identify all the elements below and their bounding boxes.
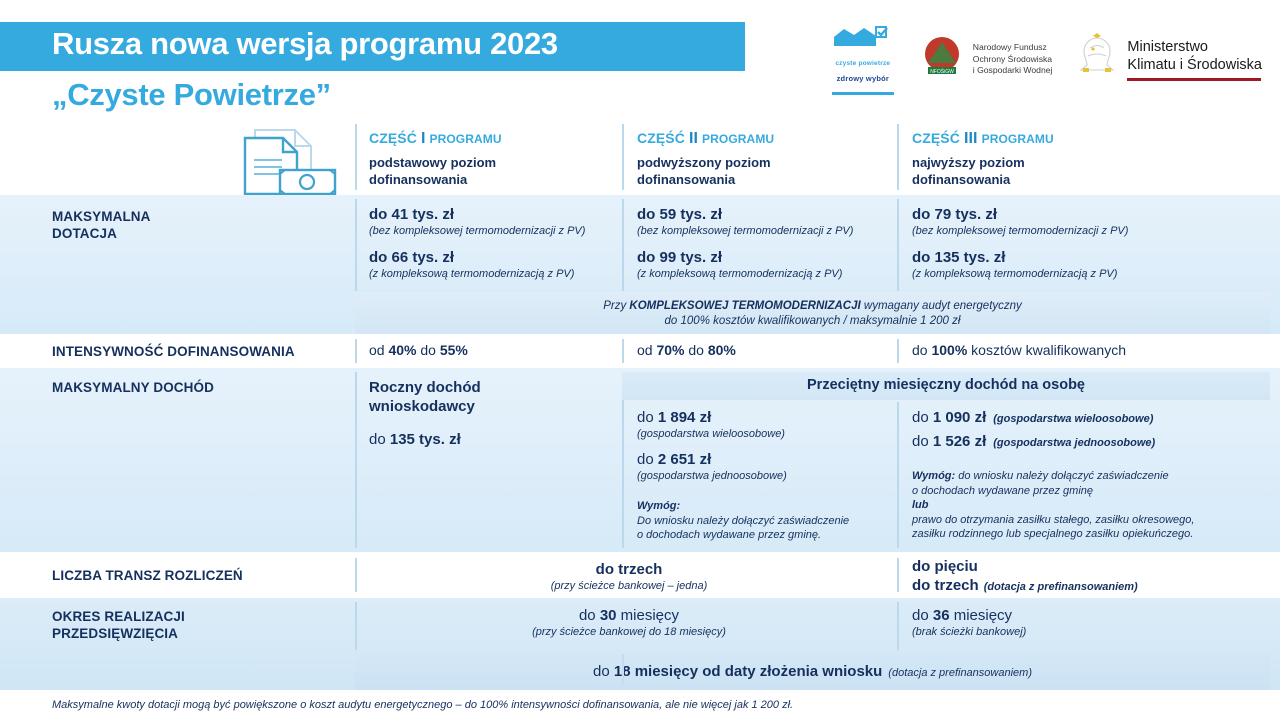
okres-bottom-separator	[622, 654, 624, 684]
transze-wide-amount: do trzech	[369, 560, 889, 579]
logo-nfosigw: NFOŚiGW Narodowy Fundusz Ochrony Środowi…	[918, 33, 1053, 86]
row5-separator-2	[897, 602, 899, 650]
okres-wide-value: 30	[600, 607, 617, 624]
dotacja-c1-note-1: (bez kompleksowej termomodernizacji z PV…	[369, 224, 585, 238]
row-intensywnosc: INTENSYWNOŚĆ DOFINANSOWANIA od 40% do 55…	[0, 334, 1280, 368]
nfos-line3: i Gospodarki Wodnej	[973, 65, 1053, 75]
dochod-c3-req-label: Wymóg:	[912, 470, 955, 482]
row2-separator-1	[355, 339, 357, 363]
column-3-kicker: CZĘŚĆ III PROGRAMU	[912, 130, 1162, 148]
transze-col-3: do pięciu do trzech(dotacja z prefinanso…	[912, 557, 1138, 595]
transze-wide: do trzech (przy ścieżce bankowej – jedna…	[369, 560, 889, 593]
footnote-band: Maksymalne kwoty dotacji mogą być powięk…	[0, 690, 1280, 721]
dochod-c1-amount: do 135 tys. zł	[369, 430, 481, 449]
column-header-2: CZĘŚĆ II PROGRAMU podwyższony poziom dof…	[637, 130, 887, 188]
dochod-c2-note-1: (gospodarstwa wieloosobowe)	[637, 427, 907, 441]
okres-wide: do 30 miesięcy (przy ścieżce bankowej do…	[369, 606, 889, 639]
row1-separator-2	[622, 199, 624, 291]
row1-separator-1	[355, 199, 357, 291]
dochod-c2-req-label: Wymóg:	[637, 499, 907, 514]
column-2-kicker: CZĘŚĆ II PROGRAMU	[637, 130, 887, 148]
dotacja-c1-amount-1: do 41 tys. zł	[369, 205, 585, 224]
column-separator-1	[355, 124, 357, 190]
okres-bottom-note: (dotacja z prefinansowaniem)	[888, 667, 1032, 679]
intensywnosc-col-2: od 70% do 80%	[637, 342, 736, 358]
logo-cp-rule	[832, 92, 894, 95]
row1-separator-3	[897, 199, 899, 291]
dotacja-c1-note-2: (z kompleksową termomodernizacją z PV)	[369, 267, 585, 281]
column-header-1: CZĘŚĆ I PROGRAMU podstawowy poziom dofin…	[369, 130, 614, 188]
dochod-wide-header: Przeciętny miesięczny dochód na osobę	[622, 372, 1270, 393]
int-c2-pre: od	[637, 342, 656, 358]
column-1-kicker: CZĘŚĆ I PROGRAMU	[369, 130, 614, 148]
logo-cp-line2: zdrowy wybór	[837, 74, 889, 83]
page-title-line1: Rusza nowa wersja programu 2023	[52, 26, 558, 62]
dotacja-c3-note-1: (bez kompleksowej termomodernizacji z PV…	[912, 224, 1128, 238]
row4-separator-2	[897, 558, 899, 592]
dochod-c2-v1: 1 894 zł	[658, 409, 711, 426]
okres-bottom-subband: do 18 miesięcy od daty złożenia wniosku(…	[355, 652, 1270, 690]
intensywnosc-col-1: od 40% do 55%	[369, 342, 468, 358]
kicker-suffix: PROGRAMU	[430, 132, 502, 146]
intensywnosc-col-3: do 100% kosztów kwalifikowanych	[912, 342, 1126, 358]
audyt-line-2: do 100% kosztów kwalifikowanych / maksym…	[355, 314, 1270, 329]
audyt-strong: KOMPLEKSOWEJ TERMOMODERNIZACJI	[629, 300, 860, 312]
transze-wide-note: (przy ścieżce bankowej – jedna)	[369, 579, 889, 593]
okres-col-3: do 36 miesięcy (brak ścieżki bankowej)	[912, 606, 1026, 639]
row-maksymalna-dotacja: MAKSYMALNA DOTACJA do 41 tys. zł (bez ko…	[0, 195, 1280, 334]
row-label-maksymalny-dochod: MAKSYMALNY DOCHÓD	[52, 379, 214, 396]
dotacja-c2-amount-2: do 99 tys. zł	[637, 248, 853, 267]
kicker-roman: II	[689, 130, 698, 147]
logo-czyste-powietrze: czyste powietrze zdrowy wybór	[830, 24, 896, 95]
row2-separator-3	[897, 339, 899, 363]
int-c1-v1: 40%	[388, 342, 416, 358]
okres-c3-note: (brak ścieżki bankowej)	[912, 625, 1026, 639]
row4-separator-1	[355, 558, 357, 592]
kicker-roman: III	[964, 130, 978, 147]
dochod-c1-lt: do	[369, 431, 390, 448]
kicker-suffix: PROGRAMU	[702, 132, 774, 146]
nfos-line1: Narodowy Fundusz	[973, 42, 1047, 52]
house-check-icon	[830, 24, 896, 53]
okres-bottom-lt: do	[593, 663, 614, 680]
dochod-col-1: Roczny dochód wnioskodawcy do 135 tys. z…	[369, 378, 481, 449]
row-label-intensywnosc: INTENSYWNOŚĆ DOFINANSOWANIA	[52, 343, 295, 360]
nfos-line2: Ochrony Środowiska	[973, 54, 1052, 64]
dotacja-c2-amount-1: do 59 tys. zł	[637, 205, 853, 224]
dochod-c2-lt2: do	[637, 451, 658, 468]
dochod-col-2: do 1 894 zł (gospodarstwa wieloosobowe) …	[637, 408, 907, 543]
kicker-roman: I	[421, 130, 426, 147]
audyt-prefix: Przy	[603, 300, 629, 312]
row2-separator-2	[622, 339, 624, 363]
row-liczba-transz: LICZBA TRANSZ ROZLICZEŃ do trzech (przy …	[0, 552, 1280, 598]
dochod-c3-req-text2: prawo do otrzymania zasiłku stałego, zas…	[912, 513, 1262, 542]
audyt-suffix: wymagany audyt energetyczny	[861, 300, 1022, 312]
logo-ministerstwo: Ministerstwo Klimatu i Środowiska	[1074, 32, 1262, 87]
transze-c3-amount-2-wrap: do trzech(dotacja z prefinansowaniem)	[912, 576, 1138, 595]
dochod-col-3: do 1 090 zł(gospodarstwa wieloosobowe) d…	[912, 408, 1262, 542]
dotacja-c2-note-2: (z kompleksową termomodernizacją z PV)	[637, 267, 853, 281]
logo-cp-line1: czyste powietrze	[835, 60, 890, 67]
ministry-red-rule	[1127, 78, 1261, 81]
dochod-c3-n1: (gospodarstwa wieloosobowe)	[993, 413, 1153, 425]
footnote-text: Maksymalne kwoty dotacji mogą być powięk…	[52, 699, 793, 711]
dochod-wide-header-band: Przeciętny miesięczny dochód na osobę	[622, 372, 1270, 400]
dotacja-c1-amount-2: do 66 tys. zł	[369, 248, 585, 267]
dochod-c2-lt1: do	[637, 409, 658, 426]
okres-wide-lt: do	[579, 607, 600, 624]
column-2-subtitle: podwyższony poziom dofinansowania	[637, 154, 887, 188]
row-label-maksymalna-dotacja: MAKSYMALNA DOTACJA	[52, 208, 151, 242]
column-1-subtitle: podstawowy poziom dofinansowania	[369, 154, 614, 188]
row-okres-realizacji: OKRES REALIZACJI PRZEDSIĘWZIĘCIA do 30 m…	[0, 598, 1280, 690]
dotacja-c3-note-2: (z kompleksową termomodernizacją z PV)	[912, 267, 1128, 281]
int-c2-v2: 80%	[708, 342, 736, 358]
int-c1-v2: 55%	[440, 342, 468, 358]
row5-separator-1	[355, 602, 357, 650]
dochod-c3-v2: 1 526 zł	[933, 433, 986, 450]
int-c1-mid: do	[417, 342, 440, 358]
dotacja-c3-amount-2: do 135 tys. zł	[912, 248, 1128, 267]
page-title-line2: „Czyste Powietrze”	[52, 77, 331, 113]
dochod-c2-v2: 2 651 zł	[658, 451, 711, 468]
int-c3-post: kosztów kwalifikowanych	[967, 342, 1126, 358]
column-3-subtitle: najwyższy poziom dofinansowania	[912, 154, 1162, 188]
dochod-c2-note-2: (gospodarstwa jednoosobowe)	[637, 469, 907, 483]
min-line2: Klimatu i Środowiska	[1127, 57, 1262, 73]
kicker-prefix: CZĘŚĆ	[637, 130, 685, 146]
kicker-prefix: CZĘŚĆ	[912, 130, 960, 146]
row-maksymalny-dochod: MAKSYMALNY DOCHÓD Przeciętny miesięczny …	[0, 368, 1280, 552]
document-and-banknote-icon	[237, 126, 341, 203]
column-header-3: CZĘŚĆ III PROGRAMU najwyższy poziom dofi…	[912, 130, 1162, 188]
dochod-c3-amount-1: do 1 090 zł(gospodarstwa wieloosobowe)	[912, 408, 1262, 427]
column-separator-3	[897, 124, 899, 190]
okres-wide-post: miesięcy	[617, 607, 680, 624]
dochod-c3-lt1: do	[912, 409, 933, 426]
okres-wide-note: (przy ścieżce bankowej do 18 miesięcy)	[369, 625, 889, 639]
min-line1: Ministerstwo	[1127, 39, 1208, 55]
dochod-c2-amount-2: do 2 651 zł	[637, 450, 907, 469]
transze-c3-amount-1: do pięciu	[912, 557, 1138, 576]
kicker-suffix: PROGRAMU	[982, 132, 1054, 146]
dochod-c1-head: Roczny dochód wnioskodawcy	[369, 378, 481, 416]
transze-c3-note-2: (dotacja z prefinansowaniem)	[984, 581, 1138, 593]
dotacja-col-3: do 79 tys. zł (bez kompleksowej termomod…	[912, 205, 1128, 281]
nfosigw-circle-icon: NFOŚiGW	[918, 33, 966, 86]
column-separator-2	[622, 124, 624, 190]
row3-separator-1	[355, 372, 357, 548]
okres-c3-value: 36	[933, 607, 950, 624]
dochod-c3-req-line1: Wymóg: do wniosku należy dołączyć zaświa…	[912, 469, 1262, 498]
logo-ministerstwo-text: Ministerstwo Klimatu i Środowiska	[1127, 38, 1262, 81]
dochod-c1-value: 135 tys. zł	[390, 431, 461, 448]
dochod-c3-lt2: do	[912, 433, 933, 450]
int-c2-mid: do	[685, 342, 708, 358]
svg-text:NFOŚiGW: NFOŚiGW	[930, 67, 954, 75]
header: Rusza nowa wersja programu 2023 „Czyste …	[0, 0, 1280, 118]
dochod-c3-or-label: lub	[912, 498, 1262, 513]
int-c1-pre: od	[369, 342, 388, 358]
okres-c3-amount: do 36 miesięcy	[912, 606, 1026, 625]
okres-c3-post: miesięcy	[950, 607, 1013, 624]
column-headers-band: CZĘŚĆ I PROGRAMU podstawowy poziom dofin…	[0, 118, 1280, 195]
infographic-page: Rusza nowa wersja programu 2023 „Czyste …	[0, 0, 1280, 721]
dotacja-c3-amount-1: do 79 tys. zł	[912, 205, 1128, 224]
polish-eagle-icon	[1074, 32, 1120, 87]
okres-c3-lt: do	[912, 607, 933, 624]
logo-group: czyste powietrze zdrowy wybór NFOŚiGW Na…	[830, 24, 1262, 95]
audyt-subband: Przy KOMPLEKSOWEJ TERMOMODERNIZACJI wyma…	[355, 292, 1270, 334]
okres-bottom-line: do 18 miesięcy od daty złożenia wniosku(…	[355, 652, 1270, 681]
dochod-c2-amount-1: do 1 894 zł	[637, 408, 907, 427]
okres-bottom-amount: do 18 miesięcy od daty złożenia wniosku	[593, 663, 882, 680]
int-c3-v1: 100%	[931, 342, 967, 358]
row-label-liczba-transz: LICZBA TRANSZ ROZLICZEŃ	[52, 567, 243, 584]
okres-bottom-post: miesięcy od daty złożenia wniosku	[631, 663, 883, 680]
row-label-okres-realizacji: OKRES REALIZACJI PRZEDSIĘWZIĘCIA	[52, 608, 185, 642]
kicker-prefix: CZĘŚĆ	[369, 130, 417, 146]
dochod-c3-n2: (gospodarstwa jednoosobowe)	[993, 437, 1155, 449]
audyt-line-1: Przy KOMPLEKSOWEJ TERMOMODERNIZACJI wyma…	[355, 292, 1270, 314]
dotacja-col-1: do 41 tys. zł (bez kompleksowej termomod…	[369, 205, 585, 281]
dochod-c3-amount-2: do 1 526 zł(gospodarstwa jednoosobowe)	[912, 432, 1262, 451]
int-c3-pre: do	[912, 342, 931, 358]
dotacja-col-2: do 59 tys. zł (bez kompleksowej termomod…	[637, 205, 853, 281]
int-c2-v1: 70%	[656, 342, 684, 358]
okres-wide-amount: do 30 miesięcy	[369, 606, 889, 625]
dotacja-c2-note-1: (bez kompleksowej termomodernizacji z PV…	[637, 224, 853, 238]
dochod-c2-req-text: Do wniosku należy dołączyć zaświadczenie…	[637, 514, 907, 543]
dochod-c3-v1: 1 090 zł	[933, 409, 986, 426]
logo-nfosigw-text: Narodowy Fundusz Ochrony Środowiska i Go…	[973, 42, 1053, 77]
transze-c3-amount-2: do trzech	[912, 577, 979, 594]
